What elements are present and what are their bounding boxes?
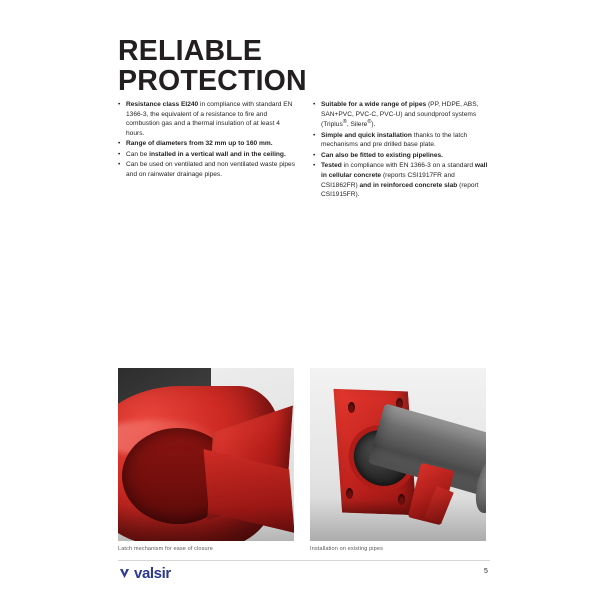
bullet-text-segment: Resistance class EI240 [126, 101, 198, 108]
page-title: RELIABLE PROTECTION [118, 37, 548, 96]
page-title-line-2: PROTECTION [118, 67, 548, 97]
page-title-line-1: RELIABLE [118, 35, 262, 67]
bullet-text-segment: Simple and quick installation [321, 132, 412, 139]
bullet-item: Can also be fitted to existing pipelines… [313, 151, 490, 161]
bullet-text-segment: Can be used on ventilated and non ventil… [126, 161, 295, 178]
figure-installation-existing-pipes [310, 368, 486, 541]
photo2-mounting-hole [348, 402, 355, 413]
bullet-item: Can be installed in a vertical wall and … [118, 150, 295, 160]
bullet-item: Simple and quick installation thanks to … [313, 131, 490, 150]
brand-logo: valsir [118, 566, 171, 581]
feature-column-left: Resistance class EI240 in compliance wit… [118, 100, 295, 201]
bullet-item: Can be used on ventilated and non ventil… [118, 160, 295, 179]
photo-latch-mechanism [118, 368, 294, 541]
brand-name: valsir [134, 566, 171, 581]
footer-divider [118, 560, 490, 561]
figure-caption-installation: Installation on existing pipes [310, 546, 383, 552]
bullet-text-segment: Suitable for a wide range of pipes [321, 101, 426, 108]
figure-caption-latch: Latch mechanism for ease of closure [118, 546, 213, 552]
bullet-text-segment: installed in a vertical wall and in the … [149, 151, 286, 158]
bullet-text-segment: ). [371, 121, 375, 128]
page-number: 5 [484, 568, 488, 575]
photo1-shadow [118, 505, 294, 541]
feature-columns: Resistance class EI240 in compliance wit… [118, 100, 490, 201]
bullet-text-segment: in compliance with EN 1366-3 on a standa… [342, 162, 475, 169]
bullet-item: Range of diameters from 32 mm up to 160 … [118, 139, 295, 149]
bullet-item: Tested in compliance with EN 1366-3 on a… [313, 161, 490, 199]
document-page: RELIABLE PROTECTION Resistance class EI2… [0, 0, 600, 600]
bullet-list-left: Resistance class EI240 in compliance wit… [118, 100, 295, 179]
bullet-item: Resistance class EI240 in compliance wit… [118, 100, 295, 138]
photo2-shadow [310, 497, 486, 541]
bullet-item: Suitable for a wide range of pipes (PP, … [313, 100, 490, 130]
bullet-text-segment: Range of diameters from 32 mm up to 160 … [126, 140, 273, 147]
figure-latch-mechanism [118, 368, 294, 541]
feature-column-right: Suitable for a wide range of pipes (PP, … [313, 100, 490, 201]
bullet-text-segment: Can be [126, 151, 149, 158]
bullet-text-segment: and in reinforced concrete slab [359, 182, 457, 189]
valsir-mark-icon [118, 567, 131, 580]
bullet-text-segment: Can also be fitted to existing pipelines… [321, 152, 443, 159]
bullet-text-segment: Tested [321, 162, 342, 169]
bullet-text-segment: , Silere [347, 121, 368, 128]
bullet-list-right: Suitable for a wide range of pipes (PP, … [313, 100, 490, 200]
photo-installation [310, 368, 486, 541]
